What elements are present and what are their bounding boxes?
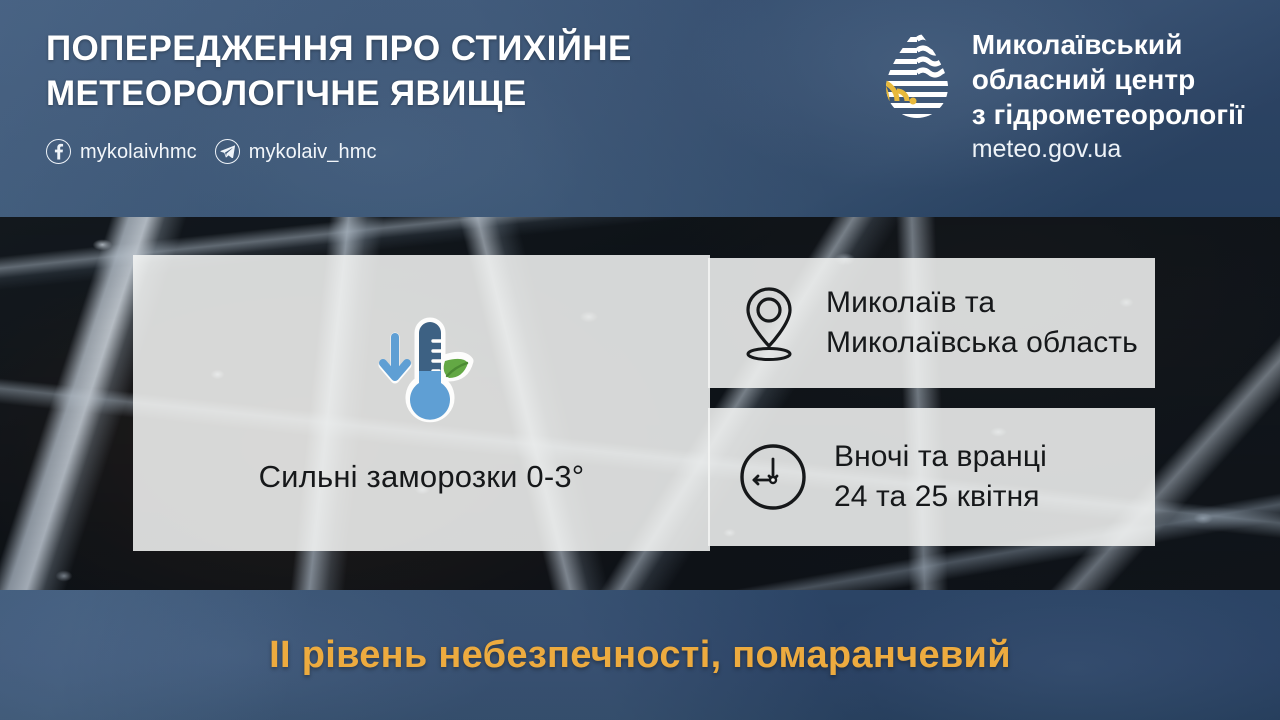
organization-name: Миколаївський обласний центр з гідромете…	[972, 27, 1244, 132]
clock-icon	[738, 442, 808, 512]
region-text: Миколаїв та Миколаївська область	[826, 283, 1138, 363]
header-left-group: ПОПЕРЕДЖЕННЯ ПРО СТИХІЙНЕ МЕТЕОРОЛОГІЧНЕ…	[0, 0, 632, 164]
region-card: Миколаїв та Миколаївська область	[708, 258, 1155, 388]
location-pin-icon	[738, 284, 800, 362]
organization-website: meteo.gov.ua	[972, 134, 1244, 165]
organization-name-block: Миколаївський обласний центр з гідромете…	[972, 27, 1244, 165]
hazard-caption: Сильні заморозки 0-3°	[259, 459, 585, 495]
social-link-facebook[interactable]: mykolaivhmc	[46, 139, 197, 164]
hazard-card: Сильні заморозки 0-3°	[133, 255, 710, 551]
telegram-icon	[215, 139, 240, 164]
header-band: ПОПЕРЕДЖЕННЯ ПРО СТИХІЙНЕ МЕТЕОРОЛОГІЧНЕ…	[0, 0, 1280, 217]
facebook-handle: mykolaivhmc	[80, 141, 197, 163]
footer-band: ІІ рівень небезпечності, помаранчевий	[0, 590, 1280, 720]
page-title: ПОПЕРЕДЖЕННЯ ПРО СТИХІЙНЕ МЕТЕОРОЛОГІЧНЕ…	[46, 26, 632, 116]
danger-level-label: ІІ рівень небезпечності, помаранчевий	[269, 632, 1011, 678]
thermometer-falling-icon	[363, 311, 481, 433]
facebook-icon	[46, 139, 71, 164]
telegram-handle: mykolaiv_hmc	[249, 141, 377, 163]
hydrometeorology-droplet-logo	[880, 27, 954, 123]
social-link-telegram[interactable]: mykolaiv_hmc	[215, 139, 377, 164]
weather-warning-poster: ПОПЕРЕДЖЕННЯ ПРО СТИХІЙНЕ МЕТЕОРОЛОГІЧНЕ…	[0, 0, 1280, 720]
time-text: Вночі та вранці 24 та 25 квітня	[834, 437, 1047, 517]
social-links: mykolaivhmc mykolaiv_hmc	[46, 139, 632, 164]
time-card: Вночі та вранці 24 та 25 квітня	[708, 408, 1155, 546]
organization-logo-block: Миколаївський обласний центр з гідромете…	[880, 0, 1280, 165]
